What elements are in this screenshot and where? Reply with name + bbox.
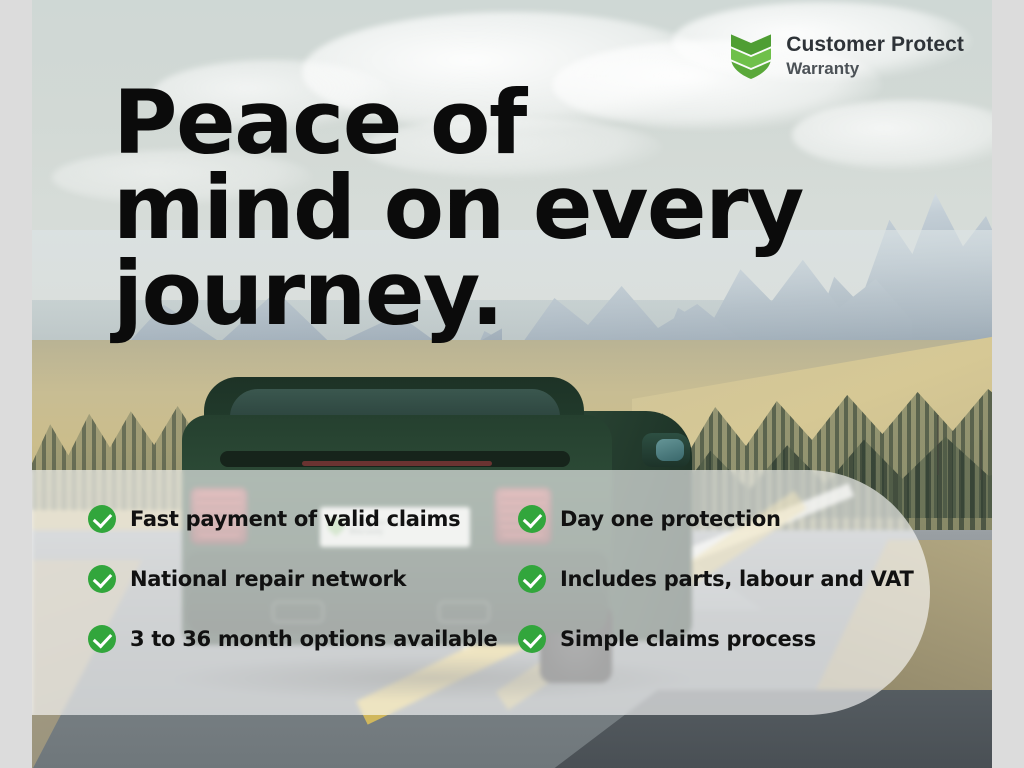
- headline-line-2: mind on every: [113, 165, 803, 250]
- headline: Peace of mind on every journey.: [113, 80, 803, 336]
- letterbox-bar-left: [0, 0, 32, 768]
- letterbox-bar-right: [992, 0, 1024, 768]
- headline-line-1: Peace of: [113, 80, 803, 165]
- high-brake-light: [302, 461, 492, 466]
- shield-chevron-icon: [729, 30, 773, 80]
- brand-title: Customer Protect: [786, 34, 964, 55]
- check-circle-icon: [88, 625, 116, 653]
- brand-logo-text: Customer Protect Warranty: [786, 34, 964, 77]
- headline-line-3: journey.: [113, 251, 803, 336]
- check-circle-icon: [518, 505, 546, 533]
- feature-label: Day one protection: [560, 507, 781, 531]
- list-item: Fast payment of valid claims: [88, 505, 518, 533]
- brand-logo: Customer Protect Warranty: [729, 30, 964, 80]
- banner-stage: Customer Protect Warranty Peace of mind …: [0, 0, 1024, 768]
- check-circle-icon: [88, 565, 116, 593]
- list-item: 3 to 36 month options available: [88, 625, 518, 653]
- brand-subtitle: Warranty: [786, 60, 964, 77]
- list-item: National repair network: [88, 565, 518, 593]
- features-list: Fast payment of valid claims Day one pro…: [88, 505, 948, 653]
- wing-mirror-glass: [656, 439, 684, 461]
- feature-label: Includes parts, labour and VAT: [560, 567, 914, 591]
- feature-label: Simple claims process: [560, 627, 816, 651]
- list-item: Day one protection: [518, 505, 948, 533]
- check-circle-icon: [518, 565, 546, 593]
- list-item: Includes parts, labour and VAT: [518, 565, 948, 593]
- utility-pole: [980, 430, 982, 480]
- feature-label: National repair network: [130, 567, 406, 591]
- feature-label: 3 to 36 month options available: [130, 627, 497, 651]
- check-circle-icon: [88, 505, 116, 533]
- utility-pole: [937, 415, 939, 475]
- check-circle-icon: [518, 625, 546, 653]
- list-item: Simple claims process: [518, 625, 948, 653]
- feature-label: Fast payment of valid claims: [130, 507, 460, 531]
